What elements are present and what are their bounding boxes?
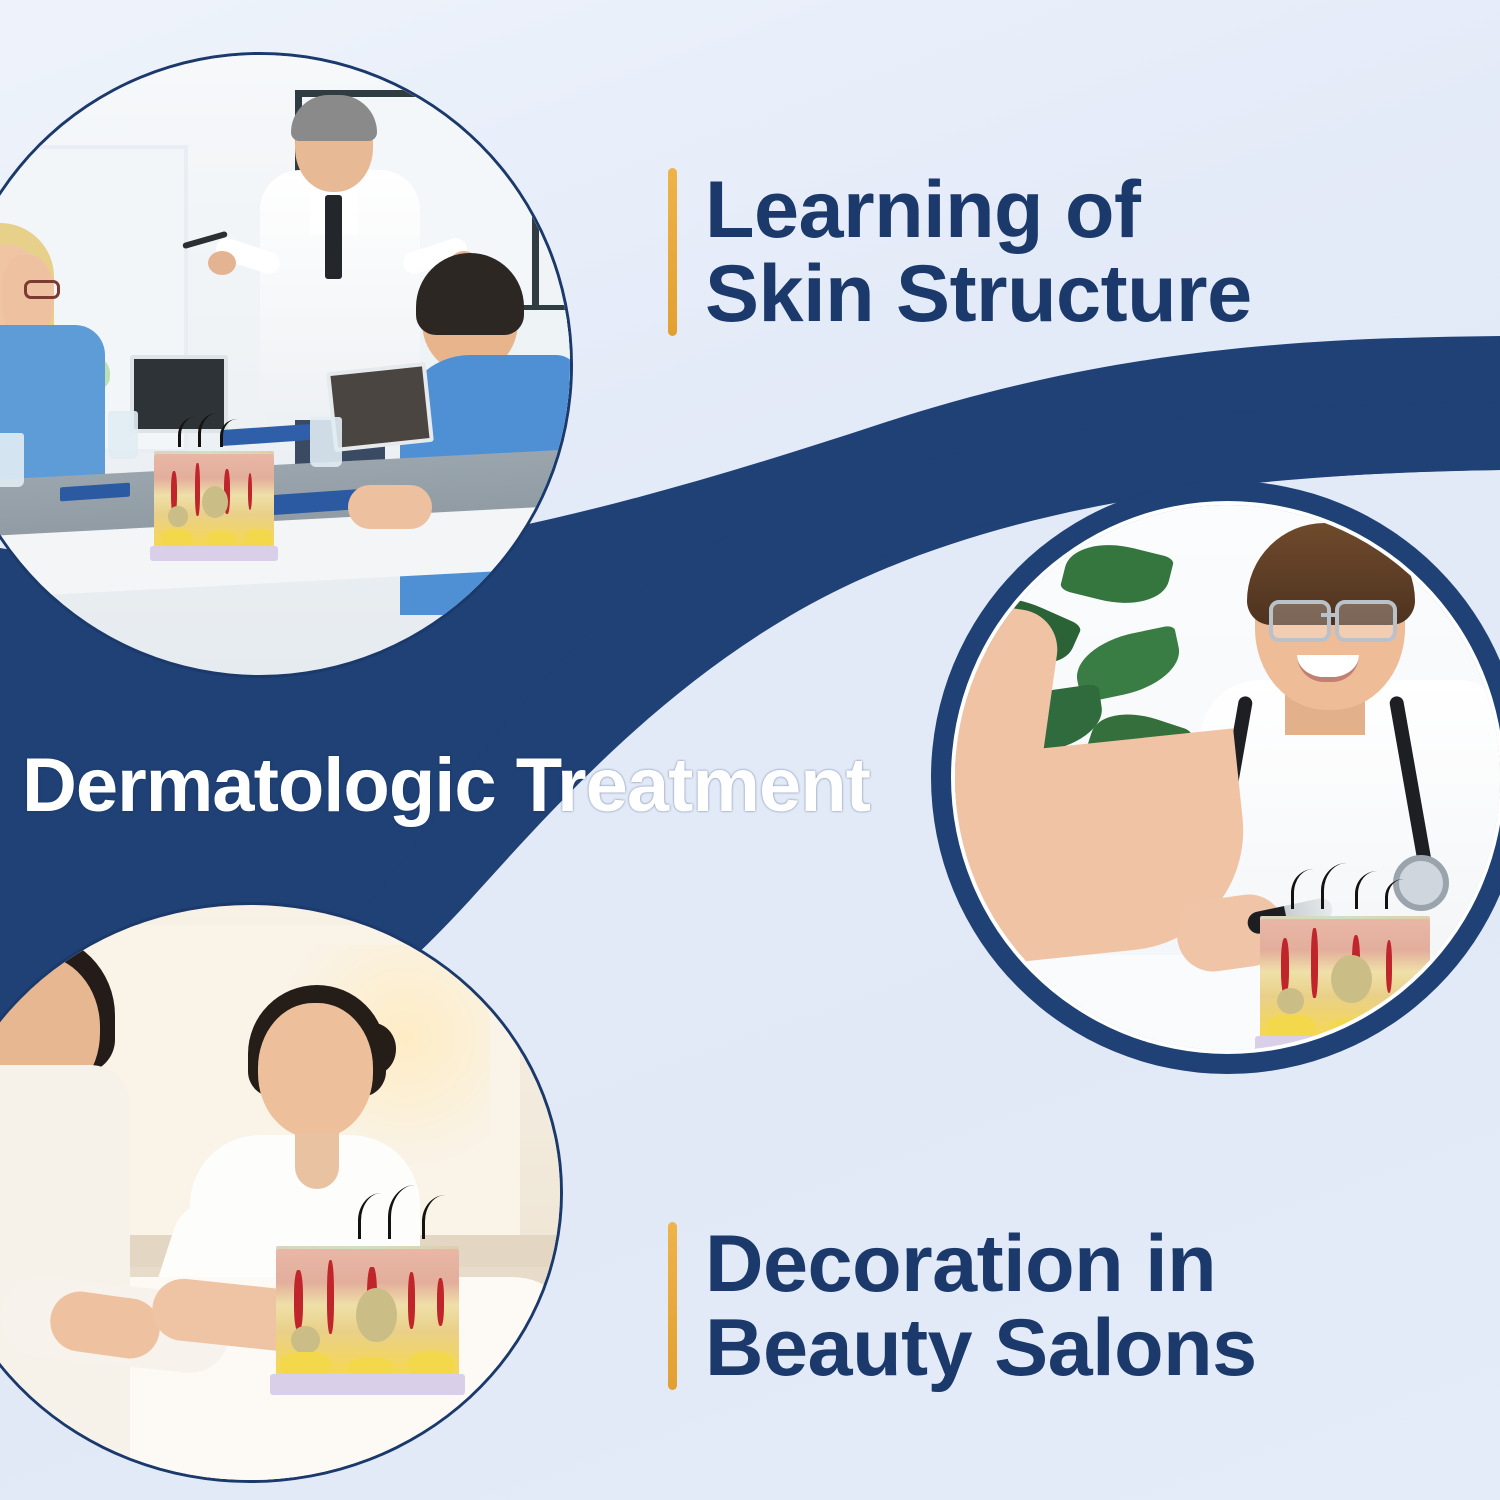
heading-bottom-line1: Decoration in [705, 1222, 1257, 1306]
skin-anatomy-model [270, 1235, 465, 1395]
heading-learning-of-skin-structure: Learning of Skin Structure [668, 168, 1252, 336]
photo-beauty-salon [0, 905, 560, 1480]
heading-top-line2: Skin Structure [705, 252, 1252, 336]
heading-bottom-line2: Beauty Salons [705, 1306, 1257, 1390]
photo-dermatologist [955, 505, 1500, 1050]
photo-classroom [0, 55, 570, 675]
accent-bar-icon [668, 168, 677, 336]
promo-banner: Learning of Skin Structure Decoration in… [0, 0, 1500, 1500]
accent-bar-icon [668, 1222, 677, 1390]
skin-anatomy-model [150, 443, 278, 561]
heading-top-line1: Learning of [705, 168, 1252, 252]
heading-decoration-in-beauty-salons: Decoration in Beauty Salons [668, 1222, 1257, 1390]
skin-anatomy-model [1255, 905, 1435, 1050]
center-title: Dermatologic Treatment [22, 742, 870, 829]
